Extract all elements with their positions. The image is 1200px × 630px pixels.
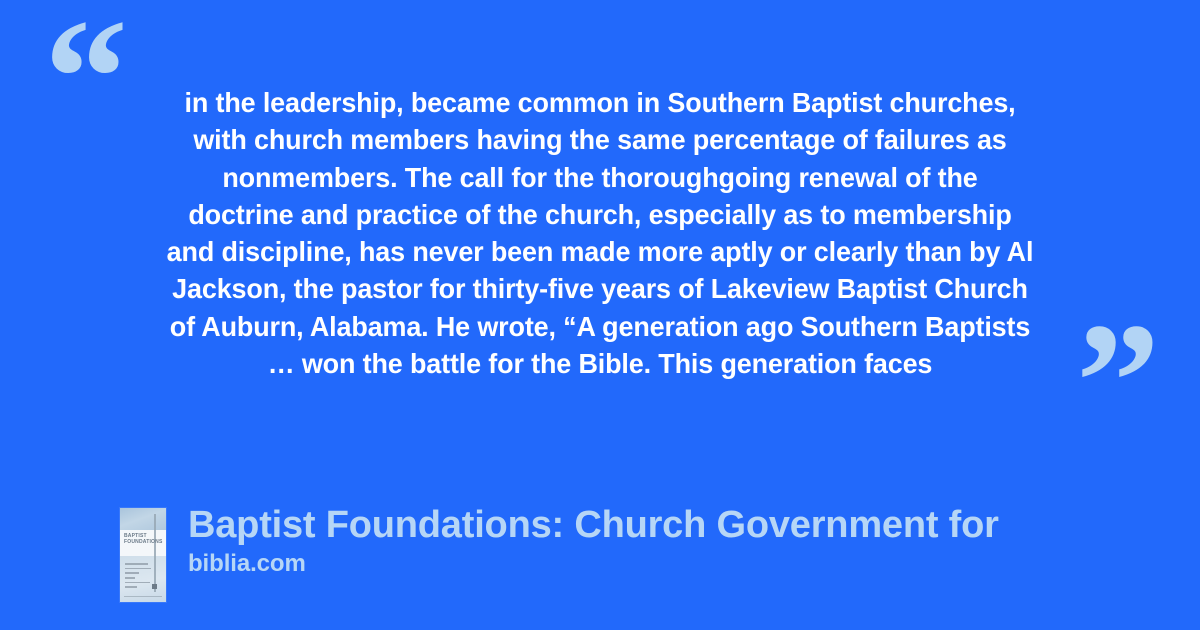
footer-attribution: BAPTIST FOUNDATIONS Baptist Foundations:…	[120, 500, 999, 602]
quote-line: … won the battle for the Bible. This gen…	[110, 345, 1090, 382]
quote-card: “ in the leadership, became common in So…	[0, 0, 1200, 630]
cover-footer-rule	[124, 596, 162, 598]
quote-line: in the leadership, became common in Sout…	[110, 84, 1090, 121]
quote-text-block: in the leadership, became common in Sout…	[100, 84, 1100, 382]
cover-publisher-mark	[152, 584, 157, 589]
quote-line: Jackson, the pastor for thirty-five year…	[110, 270, 1090, 307]
quote-line: nonmembers. The call for the thoroughgoi…	[110, 159, 1090, 196]
cover-vertical-rule	[154, 514, 156, 592]
quote-line: doctrine and practice of the church, esp…	[110, 196, 1090, 233]
cover-title-text: BAPTIST FOUNDATIONS	[124, 533, 164, 546]
closing-quote-icon: ”	[1076, 298, 1158, 466]
quote-line: and discipline, has never been made more…	[110, 233, 1090, 270]
cover-author-lines	[125, 563, 151, 591]
quote-line: with church members having the same perc…	[110, 121, 1090, 158]
site-name: biblia.com	[188, 549, 999, 579]
book-cover-thumbnail: BAPTIST FOUNDATIONS	[120, 508, 166, 602]
cover-top-band	[120, 508, 166, 532]
footer-text-column: Baptist Foundations: Church Government f…	[188, 500, 999, 579]
book-title: Baptist Foundations: Church Government f…	[188, 502, 999, 548]
quote-line: of Auburn, Alabama. He wrote, “A generat…	[110, 308, 1090, 345]
